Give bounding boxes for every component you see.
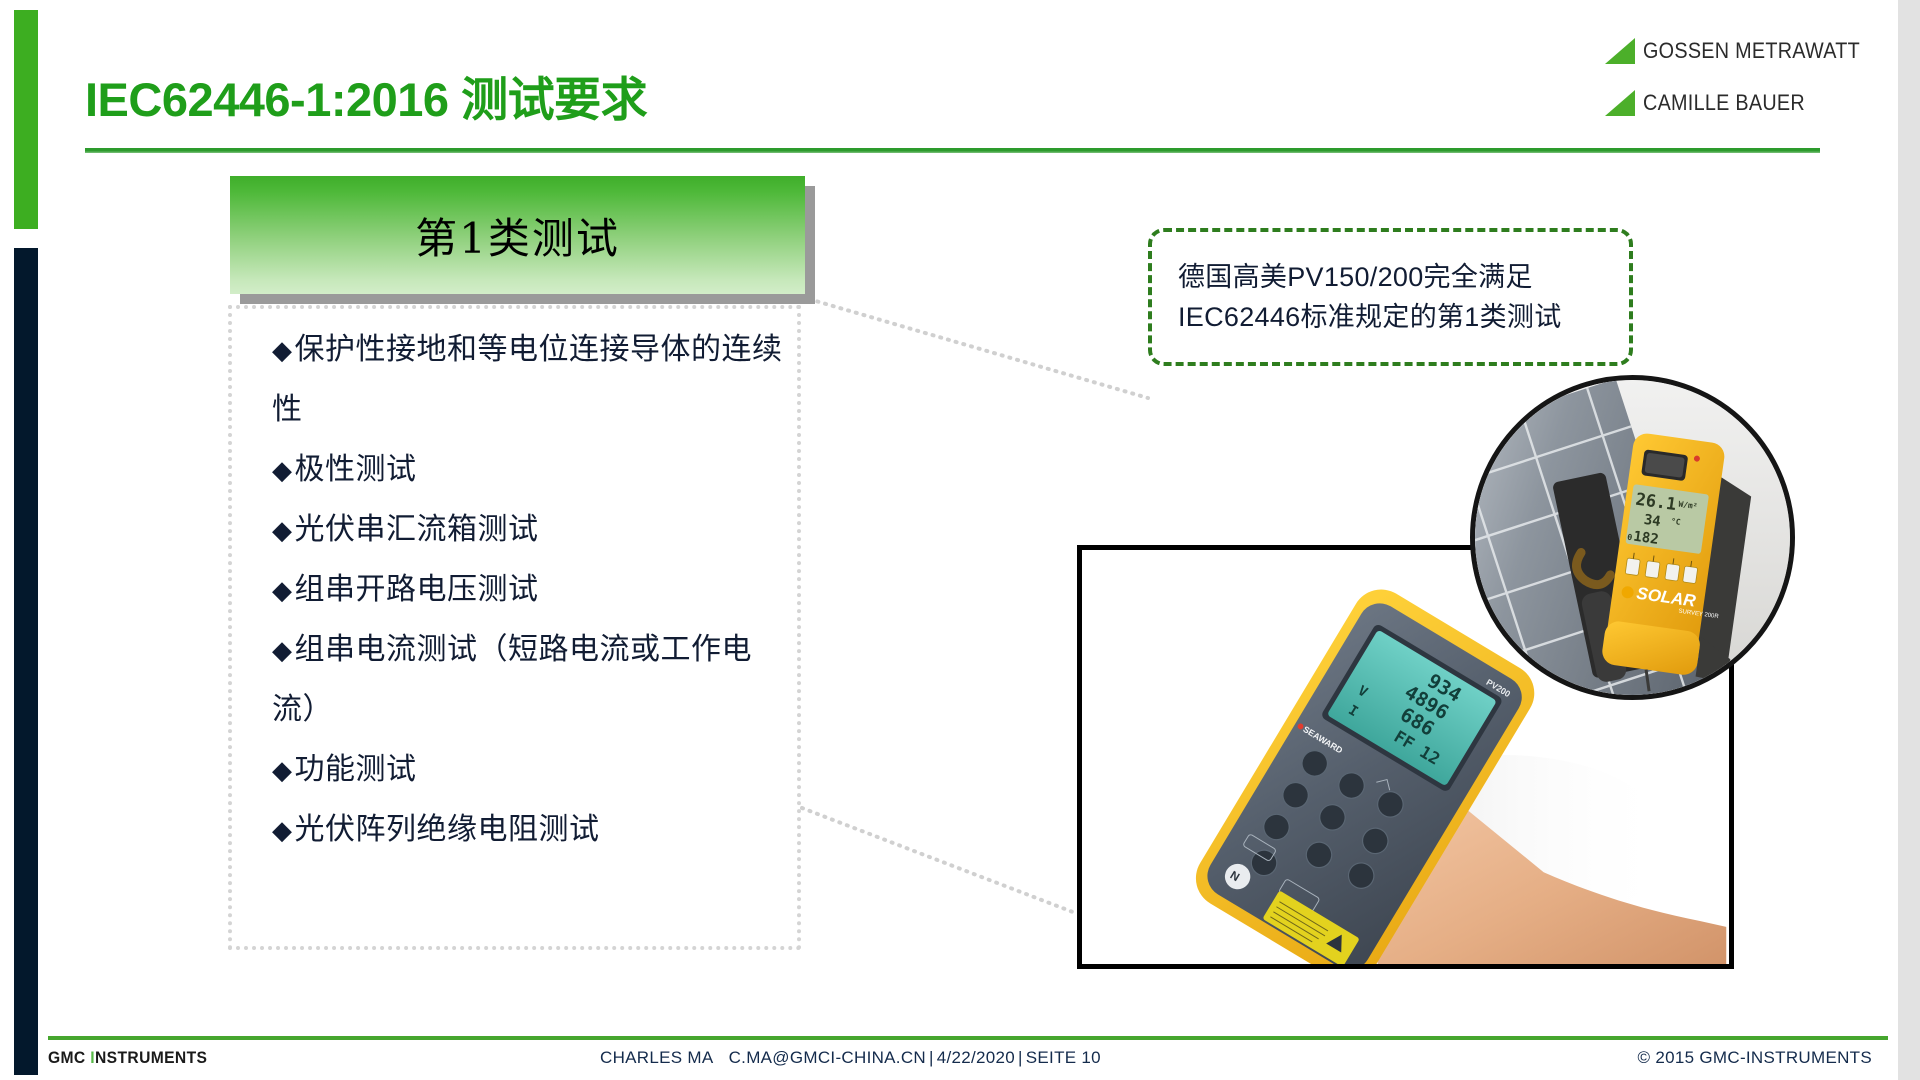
brand-logo-block: GOSSEN METRAWATT CAMILLE BAUER <box>1605 32 1865 122</box>
footer-brand-gmc: GMC <box>48 1048 90 1067</box>
callout-line-1: 德国高美PV150/200完全满足 <box>1178 257 1603 297</box>
footer-copyright: © 2015 GMC-INSTRUMENTS <box>1638 1048 1873 1068</box>
list-item-label: 功能测试 <box>295 753 417 786</box>
triangle-mark-icon <box>1605 38 1635 64</box>
logo-camille-bauer-label: CAMILLE BAUER <box>1643 90 1805 116</box>
footer-date: 4/22/2020 <box>937 1048 1015 1067</box>
category-banner: 第1类测试 <box>230 176 805 294</box>
connector-line-list-to-photo <box>800 806 1080 916</box>
list-item-label: 保护性接地和等电位连接导体的连续性 <box>272 333 783 426</box>
callout-box: 德国高美PV150/200完全满足 IEC62446标准规定的第1类测试 <box>1148 228 1633 366</box>
footer-author: CHARLES MA <box>600 1048 714 1067</box>
diamond-bullet-icon: ◆ <box>272 455 293 485</box>
diamond-bullet-icon: ◆ <box>272 335 293 365</box>
footer-meta: CHARLES MA C.MA@GMCI-CHINA.CN|4/22/2020|… <box>600 1048 1101 1068</box>
svg-text:34: 34 <box>1643 512 1662 530</box>
list-item: ◆组串电流测试（短路电流或工作电流） <box>272 620 792 740</box>
list-item: ◆光伏阵列绝缘电阻测试 <box>272 800 792 860</box>
viewer-edge-strip <box>1898 0 1920 1080</box>
list-item-label: 组串电流测试（短路电流或工作电流） <box>272 633 752 726</box>
list-item: ◆功能测试 <box>272 740 792 800</box>
list-item-label: 组串开路电压测试 <box>295 573 539 606</box>
list-item-label: 光伏阵列绝缘电阻测试 <box>295 813 600 846</box>
footer-brand-rest: NSTRUMENTS <box>95 1048 207 1067</box>
list-item: ◆保护性接地和等电位连接导体的连续性 <box>272 320 792 440</box>
list-item-label: 光伏串汇流箱测试 <box>295 513 539 546</box>
banner-label: 第1类测试 <box>415 205 620 266</box>
banner-body: 第1类测试 <box>230 176 805 294</box>
callout-line-2: IEC62446标准规定的第1类测试 <box>1178 297 1603 337</box>
triangle-mark-icon <box>1605 90 1635 116</box>
logo-gossen-metrawatt: GOSSEN METRAWATT <box>1605 32 1865 70</box>
diamond-bullet-icon: ◆ <box>272 635 293 665</box>
slide-canvas: IEC62446-1:2016 测试要求 GOSSEN METRAWATT CA… <box>0 0 1920 1080</box>
diamond-bullet-icon: ◆ <box>272 515 293 545</box>
left-accent-bar-green <box>14 10 38 229</box>
footer-separator: | <box>926 1048 937 1067</box>
list-item: ◆光伏串汇流箱测试 <box>272 500 792 560</box>
logo-camille-bauer: CAMILLE BAUER <box>1605 84 1865 122</box>
left-accent-bar-navy <box>14 248 38 1075</box>
footer-page: SEITE 10 <box>1026 1048 1101 1067</box>
footer-rule <box>48 1036 1888 1040</box>
footer-email: C.MA@GMCI-CHINA.CN <box>729 1048 926 1067</box>
bullet-list: ◆保护性接地和等电位连接导体的连续性 ◆极性测试 ◆光伏串汇流箱测试 ◆组串开路… <box>272 320 792 860</box>
photo-solar-irradiance-meter: 26.1 W/m² 34 °C 182 θ <box>1470 375 1795 700</box>
logo-gossen-metrawatt-label: GOSSEN METRAWATT <box>1643 38 1860 64</box>
diamond-bullet-icon: ◆ <box>272 815 293 845</box>
title-underline-rule <box>85 148 1820 153</box>
page-title: IEC62446-1:2016 测试要求 <box>85 76 647 123</box>
connector-line-banner-to-callout <box>800 295 1150 400</box>
svg-text:°C: °C <box>1670 517 1681 527</box>
list-item: ◆组串开路电压测试 <box>272 560 792 620</box>
diamond-bullet-icon: ◆ <box>272 575 293 605</box>
list-item-label: 极性测试 <box>295 453 417 486</box>
footer-separator: | <box>1015 1048 1026 1067</box>
footer-brand: GMC INSTRUMENTS <box>48 1048 207 1068</box>
list-item: ◆极性测试 <box>272 440 792 500</box>
diamond-bullet-icon: ◆ <box>272 755 293 785</box>
